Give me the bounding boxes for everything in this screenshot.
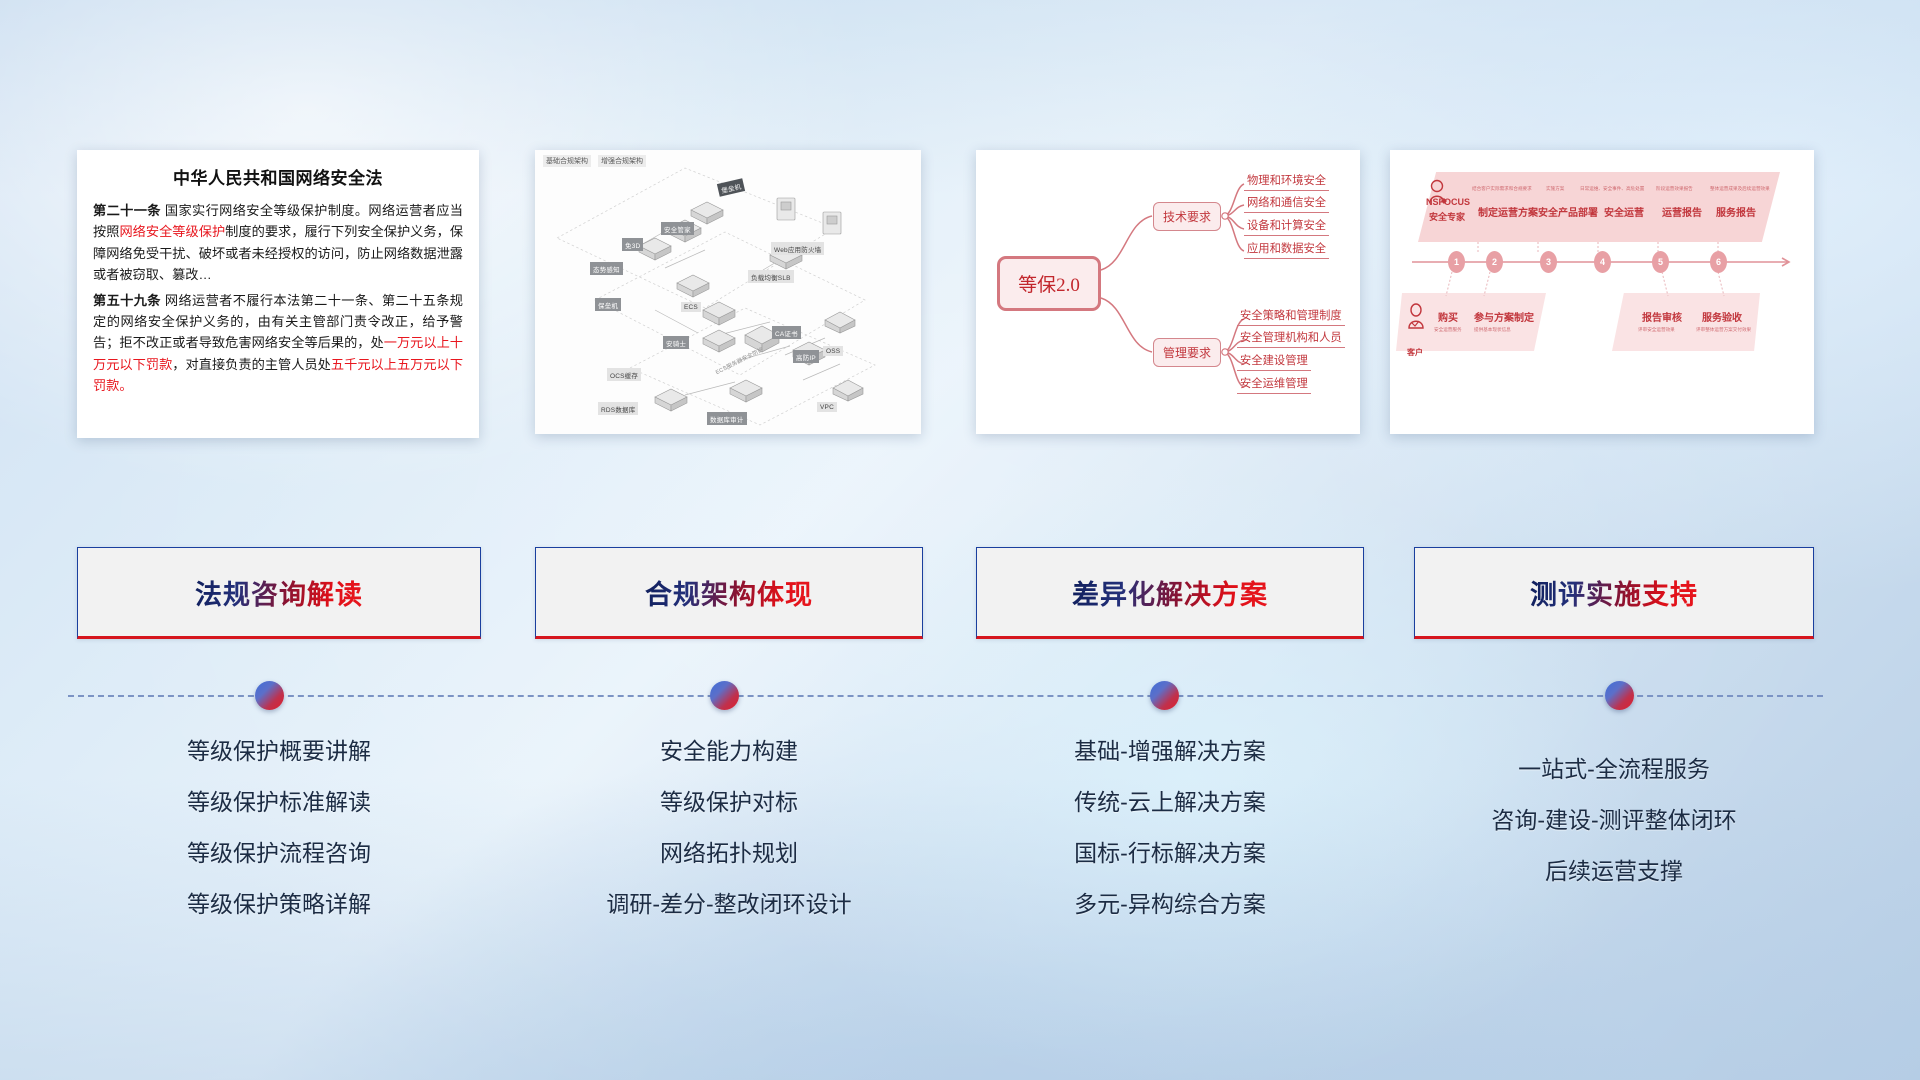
nsfocus-plan-part-sub: 提供基本现状信息 bbox=[1474, 327, 1511, 333]
customer-person-icon bbox=[1409, 304, 1423, 328]
mindmap-leaf-device-compute: 设备和计算安全 bbox=[1244, 217, 1329, 236]
law-card-title: 中华人民共和国网络安全法 bbox=[93, 164, 463, 189]
arch-node-mian3d: 免3D bbox=[622, 238, 643, 251]
timeline-node-3[interactable] bbox=[1150, 681, 1179, 710]
mindmap: 等保2.0 技术要求 管理要求 物理和环境安全 网络和通信安全 设备和计算安全 … bbox=[976, 150, 1360, 434]
arch-node-bastion-host: 保垒机 bbox=[595, 298, 621, 311]
mindmap-leaf-physical-env: 物理和环境安全 bbox=[1244, 172, 1329, 191]
timeline-node-2[interactable] bbox=[710, 681, 739, 710]
architecture-card: 基础合规架构 增强合规架构 bbox=[535, 150, 921, 434]
nsfocus-step2-sub: 实施方案 bbox=[1546, 186, 1564, 192]
nsfocus-step1-sub: 结合客户实际需求和合规要求 bbox=[1472, 186, 1532, 192]
nsfocus-expert-name: NSFOCUS bbox=[1426, 197, 1470, 207]
list-item: 基础-增强解决方案 bbox=[976, 740, 1364, 763]
nsfocus-step4-sub: 阶段运营效果报告 bbox=[1656, 186, 1693, 192]
mindmap-card: 等保2.0 技术要求 管理要求 物理和环境安全 网络和通信安全 设备和计算安全 … bbox=[976, 150, 1360, 434]
mindmap-branch-technical[interactable]: 技术要求 bbox=[1153, 202, 1221, 231]
nsfocus-marker-5: 5 bbox=[1652, 251, 1669, 273]
law-card-body: 中华人民共和国网络安全法 第二十一条 国家实行网络安全等级保护制度。网络运营者应… bbox=[77, 150, 479, 404]
nsfocus-step3-sub: 日常运维、安全事件、高危处置 bbox=[1580, 186, 1644, 192]
timeline-node-4[interactable] bbox=[1605, 681, 1634, 710]
list-item: 网络拓扑规划 bbox=[535, 842, 923, 865]
arch-node-oss: OSS bbox=[823, 346, 843, 356]
nsfocus-marker-2: 2 bbox=[1486, 251, 1503, 273]
nsfocus-timeline: NSFOCUS 安全专家 客户 结合客户实际需求和合规要求 制定运营方案 实施方… bbox=[1390, 150, 1814, 434]
nsfocus-marker-4: 4 bbox=[1594, 251, 1611, 273]
headline-label-2: 合规架构体现 bbox=[645, 573, 813, 612]
arch-node-situation-awareness: 态势感知 bbox=[590, 262, 623, 275]
nsfocus-acceptance-sub: 评审整体运营方案交付效果 bbox=[1696, 327, 1751, 333]
nsfocus-step2-main: 安全产品部署 bbox=[1538, 204, 1598, 219]
mindmap-branch-management[interactable]: 管理要求 bbox=[1153, 338, 1221, 367]
headline-label-1: 法规咨询解读 bbox=[195, 573, 363, 612]
detail-column-1: 等级保护概要讲解 等级保护标准解读 等级保护流程咨询 等级保护策略详解 bbox=[77, 740, 481, 944]
nsfocus-step4-main: 运营报告 bbox=[1662, 204, 1702, 219]
list-item: 等级保护标准解读 bbox=[77, 791, 481, 814]
law-article-59-text-b: ，对直接负责的主管人员处 bbox=[172, 357, 331, 372]
image-card-row: 中华人民共和国网络安全法 第二十一条 国家实行网络安全等级保护制度。网络运营者应… bbox=[0, 150, 1920, 450]
law-article-59-label: 第五十九条 bbox=[93, 293, 161, 308]
law-article-59: 第五十九条 网络运营者不履行本法第二十一条、第二十五条规定的网络安全保护义务的，… bbox=[93, 290, 463, 397]
detail-column-2: 安全能力构建 等级保护对标 网络拓扑规划 调研-差分-整改闭环设计 bbox=[535, 740, 923, 944]
nsfocus-purchase-main: 购买 bbox=[1438, 309, 1458, 324]
timeline-node-1[interactable] bbox=[255, 681, 284, 710]
detail-column-3: 基础-增强解决方案 传统-云上解决方案 国标-行标解决方案 多元-异构综合方案 bbox=[976, 740, 1364, 944]
nsfocus-step5-main: 服务报告 bbox=[1716, 204, 1756, 219]
nsfocus-step3-main: 安全运营 bbox=[1604, 204, 1644, 219]
list-item: 一站式-全流程服务 bbox=[1414, 758, 1814, 781]
architecture-diagram: 基础合规架构 增强合规架构 bbox=[535, 150, 921, 434]
headline-box-assessment-support[interactable]: 测评实施支持 bbox=[1414, 547, 1814, 639]
headline-row: 法规咨询解读 合规架构体现 差异化解决方案 测评实施支持 bbox=[0, 547, 1920, 639]
arch-node-ecs: ECS bbox=[681, 302, 701, 312]
nsfocus-marker-6: 6 bbox=[1710, 251, 1727, 273]
mindmap-leaf-construction: 安全建设管理 bbox=[1237, 352, 1311, 371]
arch-node-ocs-cache: OCS缓存 bbox=[607, 368, 641, 381]
nsfocus-step1-main: 制定运营方案 bbox=[1478, 204, 1538, 219]
list-item: 等级保护对标 bbox=[535, 791, 923, 814]
list-item: 传统-云上解决方案 bbox=[976, 791, 1364, 814]
nsfocus-step5-sub: 整体运营成果及后续运营效果 bbox=[1710, 186, 1770, 192]
arch-node-db-audit: 数据库审计 bbox=[707, 412, 747, 425]
nsfocus-marker-1: 1 bbox=[1448, 251, 1465, 273]
headline-box-differentiated-solution[interactable]: 差异化解决方案 bbox=[976, 547, 1364, 639]
nsfocus-acceptance-main: 服务验收 bbox=[1702, 309, 1742, 324]
headline-box-regulation-consulting[interactable]: 法规咨询解读 bbox=[77, 547, 481, 639]
arch-node-waf: Web应用防火墙 bbox=[771, 242, 824, 255]
nsfocus-plan-part-main: 参与方案制定 bbox=[1474, 309, 1534, 324]
nsfocus-timeline-card: NSFOCUS 安全专家 客户 结合客户实际需求和合规要求 制定运营方案 实施方… bbox=[1390, 150, 1814, 434]
list-item: 国标-行标解决方案 bbox=[976, 842, 1364, 865]
nsfocus-customer-label: 客户 bbox=[1407, 347, 1423, 358]
mindmap-leaf-operations: 安全运维管理 bbox=[1237, 375, 1311, 394]
headline-box-compliance-architecture[interactable]: 合规架构体现 bbox=[535, 547, 923, 639]
arch-node-rds: RDS数据库 bbox=[598, 402, 638, 415]
law-article-21: 第二十一条 国家实行网络安全等级保护制度。网络运营者应当按照网络安全等级保护制度… bbox=[93, 200, 463, 286]
law-article-21-label: 第二十一条 bbox=[93, 203, 161, 218]
arch-node-security-steward: 安全管家 bbox=[661, 222, 694, 235]
mindmap-root-node: 等保2.0 bbox=[997, 256, 1101, 311]
list-item: 等级保护策略详解 bbox=[77, 893, 481, 916]
law-article-21-highlight: 网络安全等级保护 bbox=[119, 224, 225, 239]
arch-node-anti-ddos-ip: 高防IP bbox=[793, 350, 819, 363]
mindmap-leaf-network-comm: 网络和通信安全 bbox=[1244, 194, 1329, 213]
law-card: 中华人民共和国网络安全法 第二十一条 国家实行网络安全等级保护制度。网络运营者应… bbox=[77, 150, 479, 438]
list-item: 等级保护概要讲解 bbox=[77, 740, 481, 763]
mindmap-leaf-org-personnel: 安全管理机构和人员 bbox=[1237, 329, 1345, 348]
detail-column-4: 一站式-全流程服务 咨询-建设-测评整体闭环 后续运营支撑 bbox=[1414, 758, 1814, 911]
mindmap-collapse-tech bbox=[1222, 213, 1228, 219]
nsfocus-marker-3: 3 bbox=[1540, 251, 1557, 273]
mindmap-leaf-app-data: 应用和数据安全 bbox=[1244, 240, 1329, 259]
nsfocus-graphics bbox=[1390, 150, 1814, 434]
arch-node-anqishi: 安骑士 bbox=[663, 336, 689, 349]
mindmap-collapse-mgmt bbox=[1222, 349, 1228, 355]
nsfocus-purchase-sub: 安全运营服务 bbox=[1434, 327, 1462, 333]
list-item: 多元-异构综合方案 bbox=[976, 893, 1364, 916]
headline-label-3: 差异化解决方案 bbox=[1072, 573, 1268, 612]
nsfocus-report-review-main: 报告审核 bbox=[1642, 309, 1682, 324]
detail-list-row: 等级保护概要讲解 等级保护标准解读 等级保护流程咨询 等级保护策略详解 安全能力… bbox=[0, 740, 1920, 970]
arch-node-ca-cert: CA证书 bbox=[772, 326, 801, 339]
list-item: 调研-差分-整改闭环设计 bbox=[535, 893, 923, 916]
timeline-rail bbox=[68, 695, 1823, 697]
arch-node-vpc: VPC bbox=[817, 402, 837, 412]
list-item: 安全能力构建 bbox=[535, 740, 923, 763]
nsfocus-expert-role: 安全专家 bbox=[1429, 210, 1465, 223]
headline-label-4: 测评实施支持 bbox=[1530, 573, 1698, 612]
list-item: 后续运营支撑 bbox=[1414, 860, 1814, 883]
list-item: 咨询-建设-测评整体闭环 bbox=[1414, 809, 1814, 832]
nsfocus-report-review-sub: 评审安全运营效果 bbox=[1638, 327, 1675, 333]
list-item: 等级保护流程咨询 bbox=[77, 842, 481, 865]
arch-node-slb: 负载均衡SLB bbox=[748, 270, 794, 283]
mindmap-leaf-policy-system: 安全策略和管理制度 bbox=[1237, 307, 1345, 326]
